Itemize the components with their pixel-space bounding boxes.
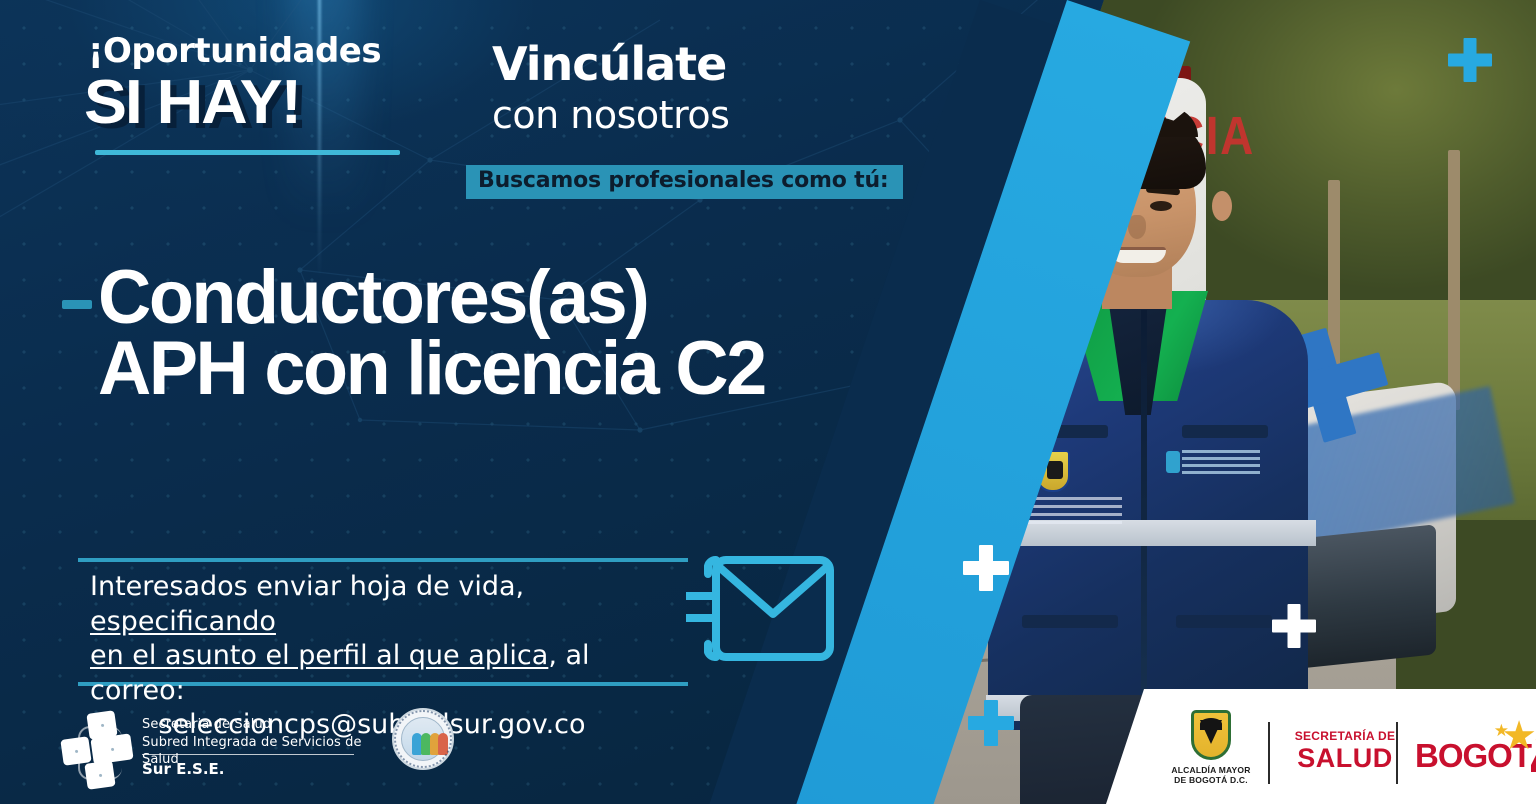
- kicker-underline: [95, 150, 400, 155]
- seeking-badge: Buscamos profesionales como tú:: [466, 165, 903, 199]
- person-zipper: [1141, 310, 1147, 710]
- job-title: Conductores(as) APH con licencia C2: [98, 262, 765, 405]
- plus-icon-bottom-left: [968, 700, 1014, 746]
- footer-divider-2: [1396, 722, 1398, 784]
- invite-subtitle: con nosotros: [492, 96, 729, 136]
- subred-sur-mark-icon: [62, 712, 130, 784]
- contact-rule-top: [78, 558, 688, 562]
- star-icon-small-1: ★: [1494, 721, 1509, 741]
- plus-icon-top-right: [1448, 38, 1492, 82]
- logo-subred-sur: Secretaria de Salud Subred Integrada de …: [62, 712, 362, 786]
- headline-dash: [62, 300, 92, 309]
- kicker-text: ¡Oportunidades: [88, 34, 381, 69]
- subred-line-1: Secretaria de Salud: [142, 716, 362, 734]
- plus-icon-mid-right: [1272, 604, 1316, 648]
- person-logo-patch: [1182, 450, 1260, 476]
- person-nose: [1128, 215, 1146, 239]
- logo-bogota: BOGOT ★ ★ ★: [1415, 739, 1531, 772]
- person-pocket-right: [1182, 425, 1268, 438]
- subred-line-3: Sur E.S.E.: [142, 760, 225, 780]
- kicker-bold-text: SI HAY!: [84, 72, 300, 134]
- fence-post-2: [1448, 150, 1460, 410]
- invite-title: Vincúlate: [492, 40, 726, 88]
- bogota-shield-icon: [1191, 710, 1231, 760]
- alcaldia-line-1: ALCALDÍA MAYOR: [1168, 765, 1254, 776]
- person-pocket-left-lower: [1022, 615, 1118, 628]
- person-patch-text: [1026, 497, 1122, 525]
- no-discrimination-seal-icon: [392, 708, 454, 770]
- plus-icon-mid-left: [963, 545, 1009, 591]
- logo-alcaldia-mayor: ALCALDÍA MAYOR DE BOGOTÁ D.C.: [1168, 710, 1254, 786]
- recruitment-poster: AMBULANCIA: [0, 0, 1536, 804]
- footer-divider-1: [1268, 722, 1270, 784]
- person-ear-right: [1212, 191, 1232, 221]
- contact-line1-underlined: especificando: [90, 606, 276, 637]
- person-pocket-right-lower: [1176, 615, 1272, 628]
- contact-line1-plain: Interesados enviar hoja de vida,: [90, 571, 524, 602]
- logo-secretaria-salud: SECRETARÍA DE SALUD: [1285, 730, 1405, 772]
- sds-line-1: SECRETARÍA DE: [1285, 730, 1405, 743]
- alcaldia-line-2: DE BOGOTÁ D.C.: [1168, 775, 1254, 786]
- sds-line-2: SALUD: [1285, 744, 1405, 772]
- envelope-icon: [686, 556, 836, 661]
- seal-ring: [394, 710, 452, 768]
- contact-line2-underlined: en el asunto el perfil al que aplica: [90, 640, 548, 671]
- subred-divider: [142, 754, 354, 755]
- person-eye-right: [1150, 201, 1172, 211]
